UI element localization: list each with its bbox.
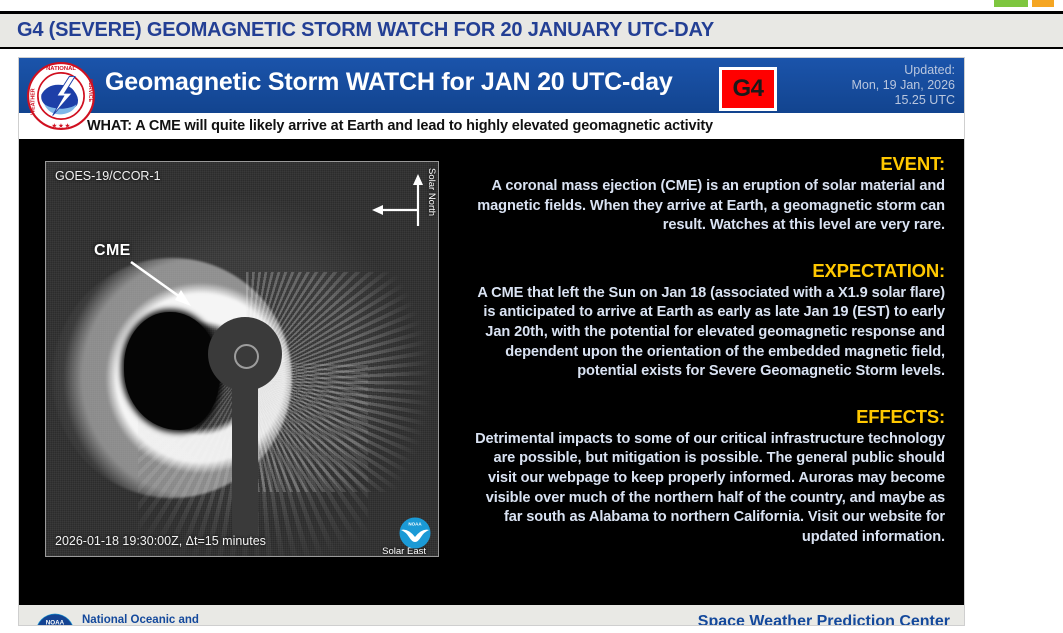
storm-level-badge: G4 — [719, 67, 777, 111]
updated-date: Mon, 19 Jan, 2026 — [851, 78, 955, 93]
prediction-center-name: Space Weather Prediction Center — [698, 612, 950, 626]
storm-watch-infographic: NATIONAL ★ ★ ★ WEATHER SERVICE Geomagnet… — [18, 57, 965, 626]
svg-text:NOAA: NOAA — [46, 619, 65, 626]
solar-disk-indicator-icon — [234, 344, 259, 369]
prediction-center-block: Space Weather Prediction Center Boulder,… — [698, 612, 950, 626]
infographic-footer: NOAA National Oceanic and Atmospheric Ad… — [19, 602, 964, 626]
coronagraph-image: GOES-19/CCOR-1 2026-01-18 19:30:00Z, Δt=… — [45, 161, 439, 557]
section-expectation: EXPECTATION: A CME that left the Sun on … — [467, 260, 945, 382]
what-summary-text: WHAT: A CME will quite likely arrive at … — [19, 118, 713, 134]
section-effects: EFFECTS: Detrimental impacts to some of … — [467, 406, 945, 548]
page-title: G4 (SEVERE) GEOMAGNETIC STORM WATCH FOR … — [0, 19, 714, 42]
section-event: EVENT: A coronal mass ejection (CME) is … — [467, 153, 945, 236]
orientation-axes-icon — [370, 170, 432, 236]
footer-tagline: Safeguarding Society with Actionable Spa… — [241, 624, 726, 626]
svg-text:★ ★ ★: ★ ★ ★ — [52, 123, 71, 130]
image-source-label: GOES-19/CCOR-1 — [55, 169, 161, 183]
noaa-logo-icon: NOAA — [399, 517, 431, 549]
what-summary-bar: WHAT: A CME will quite likely arrive at … — [19, 113, 964, 139]
svg-text:WEATHER: WEATHER — [30, 88, 36, 115]
agency-name-line1: National Oceanic and — [82, 614, 236, 626]
storm-details-column: EVENT: A coronal mass ejection (CME) is … — [467, 151, 945, 553]
agency-name: National Oceanic and Atmospheric Adminis… — [82, 614, 236, 626]
cme-annotation-label: CME — [94, 242, 131, 260]
page-headline-bar: G4 (SEVERE) GEOMAGNETIC STORM WATCH FOR … — [0, 14, 1063, 47]
noaa-logo-icon: NOAA — [35, 613, 75, 626]
infographic-header: NATIONAL ★ ★ ★ WEATHER SERVICE Geomagnet… — [19, 58, 964, 113]
svg-text:SERVICE: SERVICE — [87, 79, 93, 103]
section-expectation-heading: EXPECTATION: — [467, 260, 945, 282]
orange-indicator-bar — [1032, 0, 1054, 7]
section-event-heading: EVENT: — [467, 153, 945, 175]
national-weather-service-seal-icon: NATIONAL ★ ★ ★ WEATHER SERVICE — [26, 61, 96, 131]
top-indicator-strip — [0, 0, 1063, 11]
infographic-body: GOES-19/CCOR-1 2026-01-18 19:30:00Z, Δt=… — [19, 143, 964, 602]
svg-text:NOAA: NOAA — [408, 522, 422, 527]
section-expectation-body: A CME that left the Sun on Jan 18 (assoc… — [467, 284, 945, 382]
infographic-title: Geomagnetic Storm WATCH for JAN 20 UTC-d… — [105, 68, 673, 97]
image-timestamp-label: 2026-01-18 19:30:00Z, Δt=15 minutes — [55, 534, 266, 548]
updated-time: 15.25 UTC — [851, 93, 955, 108]
updated-label: Updated: — [851, 63, 955, 78]
section-effects-heading: EFFECTS: — [467, 406, 945, 428]
section-event-body: A coronal mass ejection (CME) is an erup… — [467, 177, 945, 236]
headline-divider — [0, 47, 1063, 49]
green-indicator-bar — [994, 0, 1028, 7]
axis-label-solar-north: Solar North — [426, 168, 437, 216]
svg-text:NATIONAL: NATIONAL — [46, 66, 76, 72]
updated-timestamp: Updated: Mon, 19 Jan, 2026 15.25 UTC — [851, 63, 955, 108]
cme-pointer-arrow-icon — [129, 260, 199, 310]
section-effects-body: Detrimental impacts to some of our criti… — [467, 430, 945, 548]
